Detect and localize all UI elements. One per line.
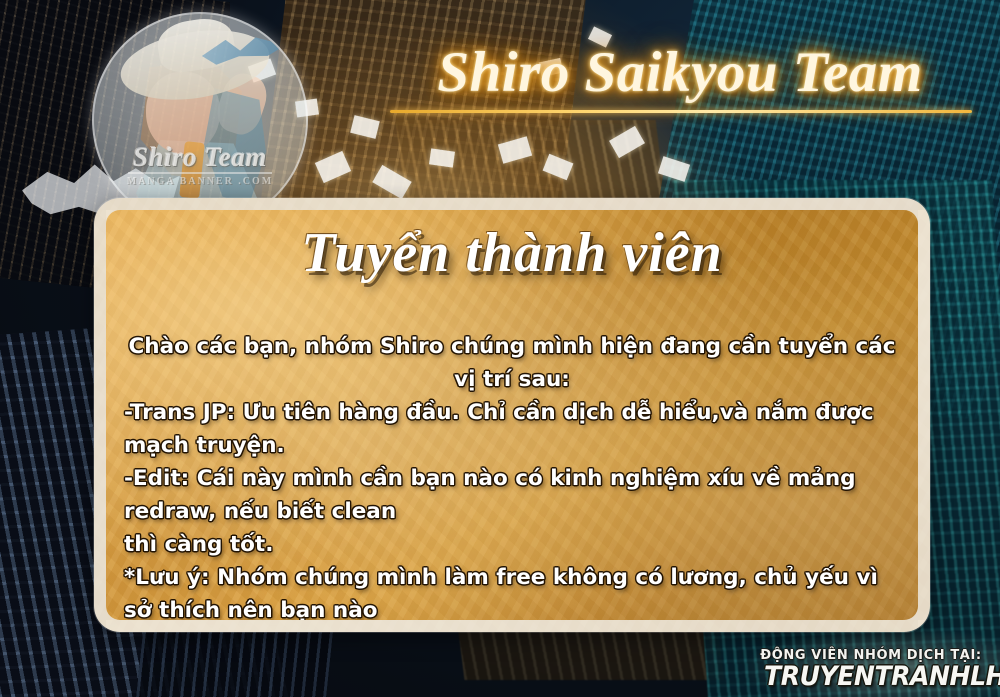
page-title: Shiro Saikyou Team: [380, 44, 980, 101]
logo-subtitle: MANGA BANNER .COM: [94, 176, 306, 187]
panel-content: Tuyển thành viên Chào các bạn, nhóm Shir…: [106, 210, 918, 620]
header-title-block: Shiro Saikyou Team: [380, 44, 980, 101]
panel-heading: Tuyển thành viên: [106, 224, 918, 283]
body-line: -Edit: Cái này mình cần bạn nào có kinh …: [124, 462, 900, 528]
team-logo-watermark: Shiro Team MANGA BANNER .COM: [92, 12, 308, 228]
body-line: -Trans JP: Ưu tiên hàng đầu. Chỉ cần dịc…: [124, 396, 900, 462]
body-line: thì càng tốt.: [124, 528, 900, 561]
title-underline: [390, 110, 972, 113]
watermark-site: TRUYENTRANHLH.COM: [764, 663, 978, 691]
page-root: Shiro Team MANGA BANNER .COM Shiro Saiky…: [0, 0, 1000, 697]
body-line: *Lưu ý: Nhóm chúng mình làm free không c…: [124, 561, 900, 627]
body-line: Chào các bạn, nhóm Shiro chúng mình hiện…: [124, 330, 900, 396]
site-watermark: ĐỘNG VIÊN NHÓM DỊCH TẠI: TRUYENTRANHLH.C…: [756, 648, 986, 691]
recruitment-body: Chào các bạn, nhóm Shiro chúng mình hiện…: [124, 330, 900, 632]
paper-sheet: [429, 148, 455, 167]
body-line: có hứng thú hãy tham gia cùng chúng tớ b…: [124, 627, 900, 632]
logo-name: Shiro Team: [94, 142, 306, 173]
recruitment-panel: Tuyển thành viên Chào các bạn, nhóm Shir…: [94, 198, 930, 632]
logo-divider: [128, 172, 272, 174]
